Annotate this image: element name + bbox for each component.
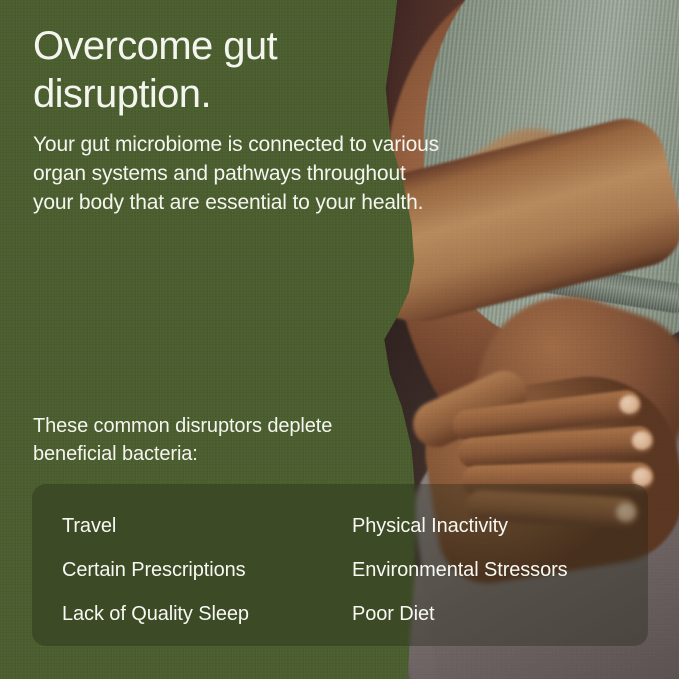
content-layer: Overcome gut disruption. Your gut microb… (0, 0, 679, 679)
disruptors-heading: These common disruptors deplete benefici… (33, 412, 403, 468)
intro-paragraph: Your gut microbiome is connected to vari… (33, 130, 439, 217)
list-item: Lack of Quality Sleep (62, 601, 352, 627)
list-item: Certain Prescriptions (62, 557, 352, 583)
list-item: Travel (62, 513, 352, 539)
disruptors-card: Travel Physical Inactivity Certain Presc… (32, 484, 648, 646)
disruptors-grid: Travel Physical Inactivity Certain Presc… (32, 484, 648, 646)
list-item: Environmental Stressors (352, 557, 648, 583)
list-item: Poor Diet (352, 601, 648, 627)
poster: Overcome gut disruption. Your gut microb… (0, 0, 679, 679)
list-item: Physical Inactivity (352, 513, 648, 539)
page-title: Overcome gut disruption. (33, 22, 433, 118)
